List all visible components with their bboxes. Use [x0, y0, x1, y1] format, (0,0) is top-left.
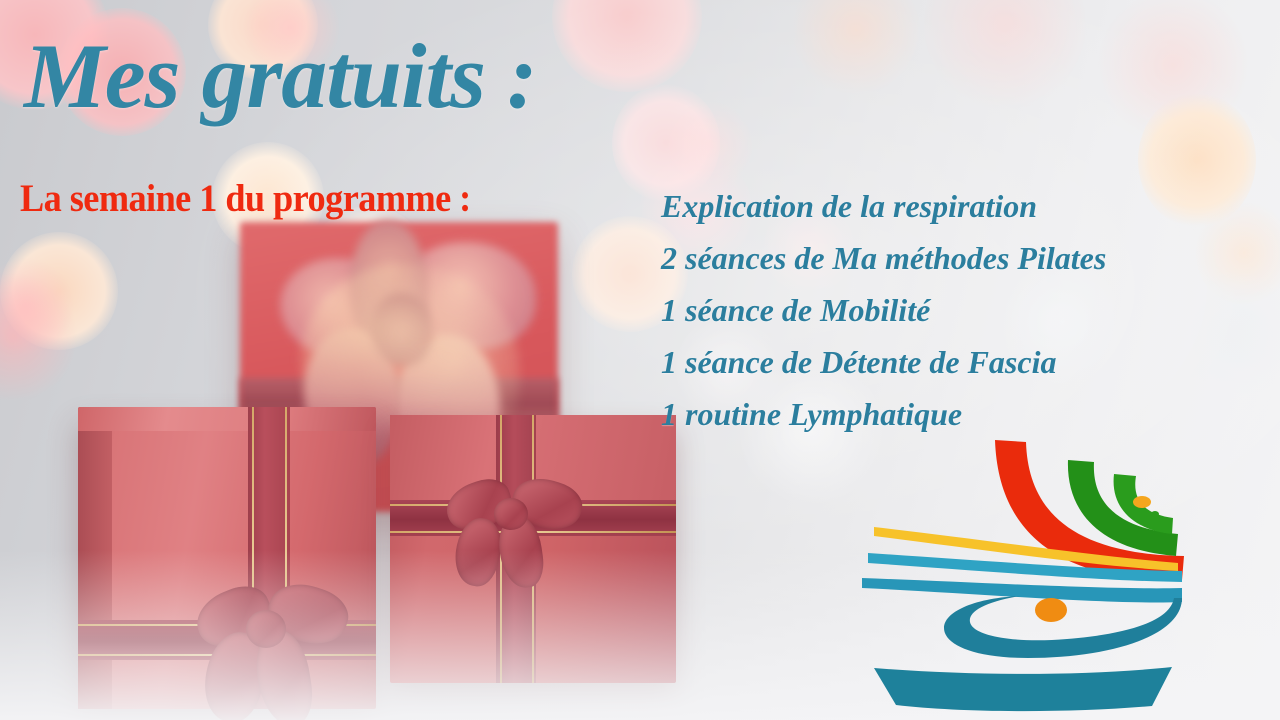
logo-boat-hull-icon: [874, 667, 1172, 711]
list-item: 1 séance de Mobilité: [661, 284, 1261, 336]
right-gift-box-bow-knot: [494, 498, 528, 530]
logo-orange-dot-small-icon: [1133, 496, 1151, 508]
logo-teal-line-lower-icon: [862, 578, 1182, 602]
slide-canvas: Mes gratuits : La semaine 1 du programme…: [0, 0, 1280, 720]
subtitle: La semaine 1 du programme :: [20, 179, 471, 218]
abstract-wave-boat-logo: [852, 430, 1212, 712]
list-item: Explication de la respiration: [661, 180, 1261, 232]
logo-orange-dot-center-icon: [1035, 598, 1067, 622]
left-gift-box-lid: [78, 407, 376, 431]
list-item: 2 séances de Ma méthodes Pilates: [661, 232, 1261, 284]
list-item: 1 séance de Détente de Fascia: [661, 336, 1261, 388]
freebies-list: Explication de la respiration 2 séances …: [661, 180, 1261, 440]
page-title: Mes gratuits :: [24, 30, 537, 122]
logo-green-accent-dot-icon: [1151, 511, 1159, 517]
